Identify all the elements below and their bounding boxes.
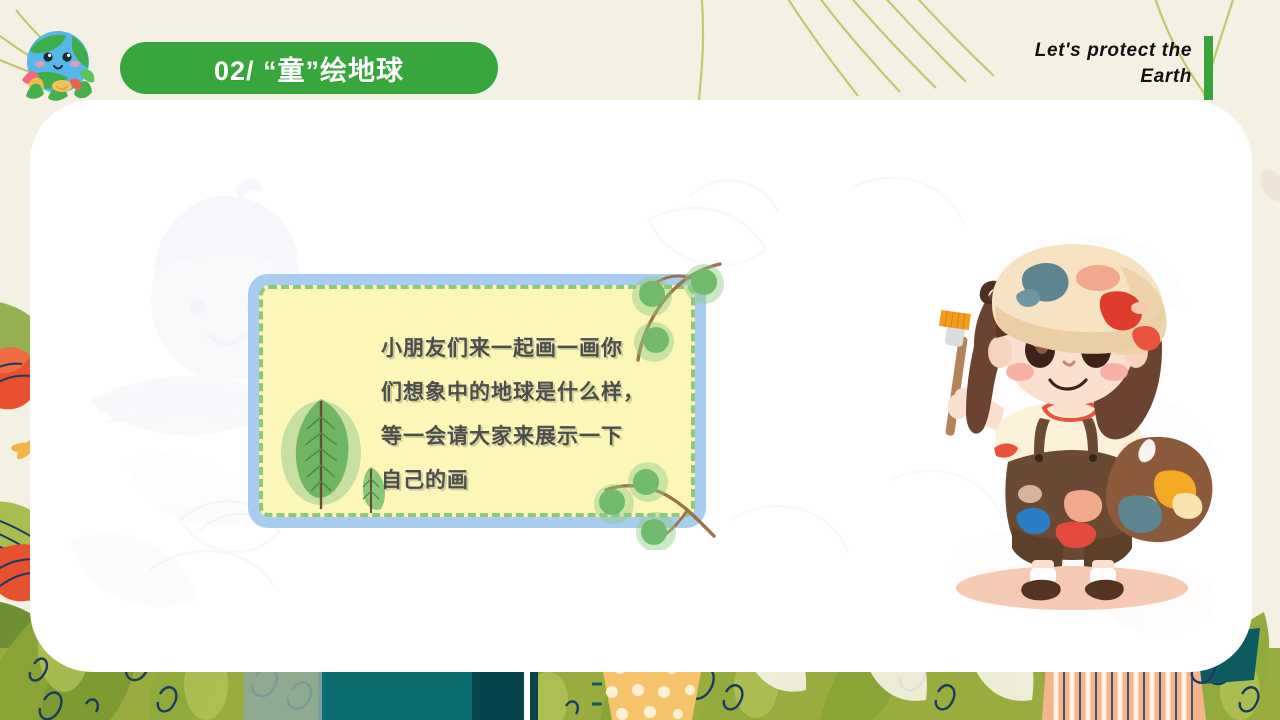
painter-hat-icon bbox=[992, 244, 1167, 355]
header-accent-bar bbox=[1204, 36, 1213, 100]
girl-painter-illustration bbox=[908, 236, 1226, 622]
header-english-text: Let's protect the Earth bbox=[872, 38, 1192, 90]
section-title-text: 02/ “童”绘地球 bbox=[214, 49, 404, 88]
section-title-pill[interactable]: 02/ “童”绘地球 bbox=[120, 42, 498, 94]
instruction-card: 小朋友们来一起画一画你 们想象中的地球是什么样， 等一会请大家来展示一下 自己的… bbox=[248, 274, 706, 528]
paint-palette-icon bbox=[1106, 437, 1213, 542]
branch-with-leaves-icon bbox=[590, 440, 730, 550]
slide-canvas: 02/ “童”绘地球 Let's protect the Earth bbox=[0, 0, 1280, 720]
header-english-line-2: Earth bbox=[872, 64, 1192, 90]
earth-mascot-icon bbox=[14, 24, 102, 108]
header-english-line-1: Let's protect the bbox=[872, 38, 1192, 64]
branch-with-leaves-icon bbox=[594, 260, 734, 390]
